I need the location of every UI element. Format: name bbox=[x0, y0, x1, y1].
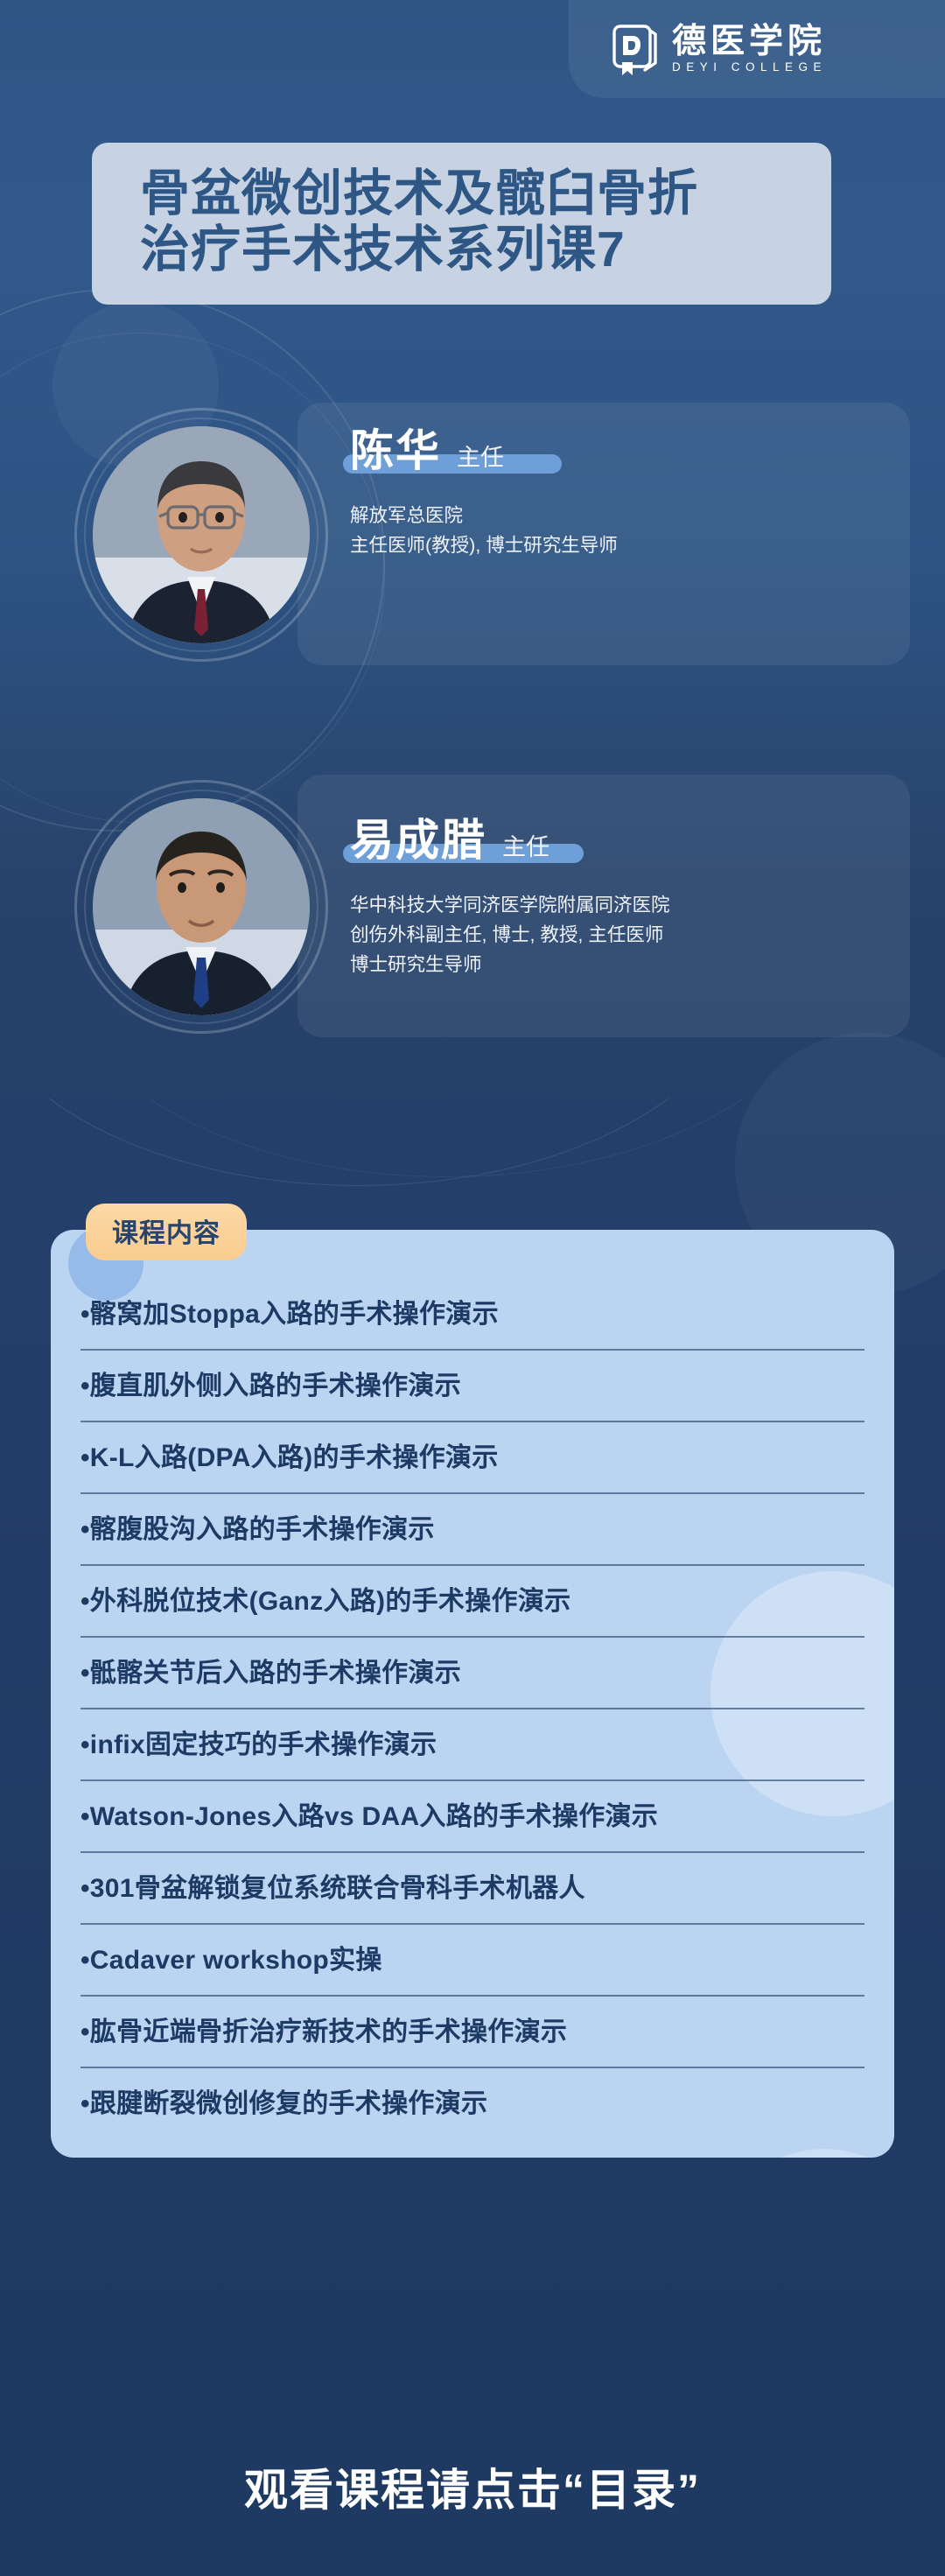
list-item[interactable]: •腹直肌外侧入路的手术操作演示 bbox=[51, 1351, 894, 1422]
page-title: 骨盆微创技术及髋臼骨折 治疗手术技术系列课7 bbox=[92, 143, 831, 305]
list-item-label: •骶髂关节后入路的手术操作演示 bbox=[80, 1638, 864, 1708]
affiliation-line: 解放军总医院 bbox=[350, 502, 892, 531]
footer-cta: 观看课程请点击“目录” bbox=[0, 2436, 945, 2576]
speaker-name: 陈华 bbox=[350, 427, 441, 475]
speaker-role: 主任 bbox=[502, 828, 549, 862]
list-item[interactable]: •infix固定技巧的手术操作演示 bbox=[51, 1709, 894, 1781]
list-item[interactable]: •髂窝加Stoppa入路的手术操作演示 bbox=[51, 1279, 894, 1351]
brand-logo: 德医学院 DEYI COLLEGE bbox=[569, 0, 945, 98]
list-item-label: •髂窝加Stoppa入路的手术操作演示 bbox=[80, 1279, 864, 1349]
list-item-label: •腹直肌外侧入路的手术操作演示 bbox=[80, 1351, 864, 1421]
speaker-details: 陈华 主任 解放军总医院 主任医师(教授), 博士研究生导师 bbox=[350, 427, 892, 561]
avatar bbox=[93, 426, 310, 643]
list-item-divider bbox=[80, 1923, 864, 1925]
section-badge-course-content: 课程内容 bbox=[86, 1204, 247, 1260]
list-item-label: •跟腱断裂微创修复的手术操作演示 bbox=[80, 2068, 864, 2138]
list-item-divider bbox=[80, 1851, 864, 1853]
speaker-card-2: 易成腊 主任 华中科技大学同济医学院附属同济医院 创伤外科副主任, 博士, 教授… bbox=[35, 748, 910, 1063]
affiliation-line: 创伤外科副主任, 博士, 教授, 主任医师 bbox=[350, 921, 892, 951]
list-item-label: •髂腹股沟入路的手术操作演示 bbox=[80, 1494, 864, 1564]
list-item-divider bbox=[80, 1995, 864, 1997]
list-item-divider bbox=[80, 2067, 864, 2068]
list-item-label: •301骨盆解锁复位系统联合骨科手术机器人 bbox=[80, 1853, 864, 1923]
speaker-details: 易成腊 主任 华中科技大学同济医学院附属同济医院 创伤外科副主任, 博士, 教授… bbox=[350, 817, 892, 980]
book-d-icon bbox=[609, 22, 660, 76]
list-item-divider bbox=[80, 1421, 864, 1422]
course-content-card: •髂窝加Stoppa入路的手术操作演示•腹直肌外侧入路的手术操作演示•K-L入路… bbox=[51, 1230, 894, 2158]
list-item-label: •Watson-Jones入路vs DAA入路的手术操作演示 bbox=[80, 1781, 864, 1851]
list-item[interactable]: •肱骨近端骨折治疗新技术的手术操作演示 bbox=[51, 1997, 894, 2068]
affiliation-line: 主任医师(教授), 博士研究生导师 bbox=[350, 531, 892, 561]
list-item[interactable]: •骶髂关节后入路的手术操作演示 bbox=[51, 1638, 894, 1709]
decorative-circle-content-2 bbox=[710, 2149, 894, 2158]
footer-cta-text: 观看课程请点击“目录” bbox=[244, 2455, 701, 2518]
list-item-divider bbox=[80, 1779, 864, 1781]
speaker-affiliation: 华中科技大学同济医学院附属同济医院 创伤外科副主任, 博士, 教授, 主任医师 … bbox=[350, 891, 892, 980]
list-item-divider bbox=[80, 1708, 864, 1709]
list-item-label: •infix固定技巧的手术操作演示 bbox=[80, 1709, 864, 1779]
list-item-divider bbox=[80, 1636, 864, 1638]
list-item-label: •肱骨近端骨折治疗新技术的手术操作演示 bbox=[80, 1997, 864, 2067]
list-item[interactable]: •外科脱位技术(Ganz入路)的手术操作演示 bbox=[51, 1566, 894, 1638]
course-content-list: •髂窝加Stoppa入路的手术操作演示•腹直肌外侧入路的手术操作演示•K-L入路… bbox=[51, 1279, 894, 2138]
list-item[interactable]: •Cadaver workshop实操 bbox=[51, 1925, 894, 1997]
list-item-label: •Cadaver workshop实操 bbox=[80, 1925, 864, 1995]
page-title-line2: 治疗手术技术系列课7 bbox=[140, 221, 831, 277]
brand-name-en: DEYI COLLEGE bbox=[672, 61, 827, 74]
brand-name-cn: 德医学院 bbox=[672, 25, 827, 59]
speaker-card-1: 陈华 主任 解放军总医院 主任医师(教授), 博士研究生导师 bbox=[35, 376, 910, 691]
speaker-affiliation: 解放军总医院 主任医师(教授), 博士研究生导师 bbox=[350, 502, 892, 561]
list-item[interactable]: •K-L入路(DPA入路)的手术操作演示 bbox=[51, 1422, 894, 1494]
speaker-name: 易成腊 bbox=[350, 817, 486, 865]
list-item-divider bbox=[80, 1349, 864, 1351]
affiliation-line: 华中科技大学同济医学院附属同济医院 bbox=[350, 891, 892, 921]
list-item-divider bbox=[80, 1564, 864, 1566]
speaker-role: 主任 bbox=[457, 439, 504, 473]
list-item[interactable]: •髂腹股沟入路的手术操作演示 bbox=[51, 1494, 894, 1566]
list-item-label: •外科脱位技术(Ganz入路)的手术操作演示 bbox=[80, 1566, 864, 1636]
affiliation-line: 博士研究生导师 bbox=[350, 951, 892, 980]
list-item[interactable]: •301骨盆解锁复位系统联合骨科手术机器人 bbox=[51, 1853, 894, 1925]
list-item[interactable]: •Watson-Jones入路vs DAA入路的手术操作演示 bbox=[51, 1781, 894, 1853]
list-item[interactable]: •跟腱断裂微创修复的手术操作演示 bbox=[51, 2068, 894, 2138]
list-item-label: •K-L入路(DPA入路)的手术操作演示 bbox=[80, 1422, 864, 1492]
page-title-line1: 骨盆微创技术及髋臼骨折 bbox=[140, 165, 831, 221]
list-item-divider bbox=[80, 1492, 864, 1494]
avatar bbox=[93, 798, 310, 1015]
